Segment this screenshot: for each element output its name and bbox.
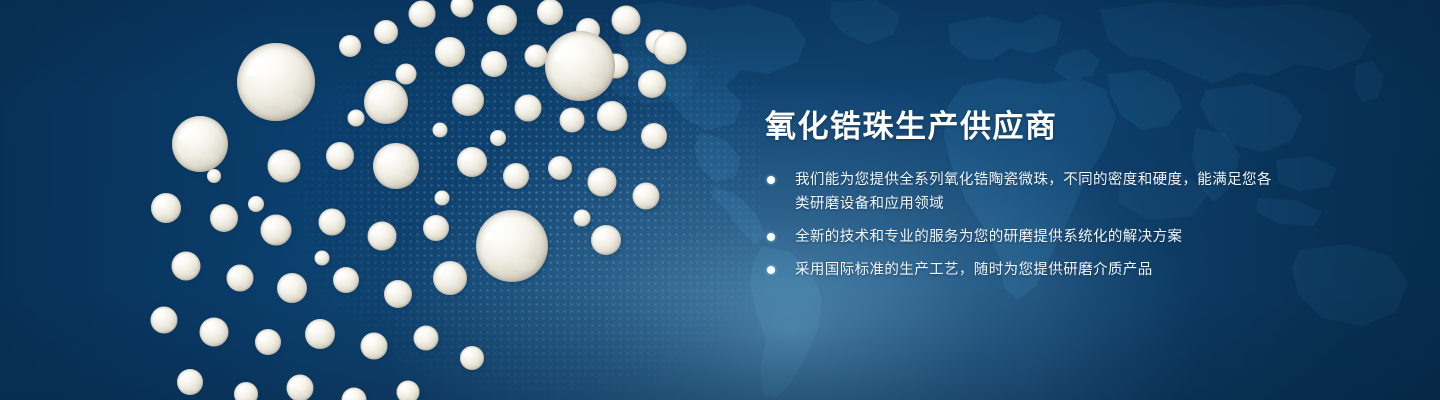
list-item-label: 我们能为您提供全系列氧化锆陶瓷微珠，不同的密度和硬度，能满足您各类研磨设备和应用… [795,172,1272,212]
list-item-label: 全新的技术和专业的服务为您的研磨提供系统化的解决方案 [795,229,1182,245]
zirconia-beads-photo [150,0,710,400]
list-item: 我们能为您提供全系列氧化锆陶瓷微珠，不同的密度和硬度，能满足您各类研磨设备和应用… [765,168,1285,216]
hero-banner: 氧化锆珠生产供应商 我们能为您提供全系列氧化锆陶瓷微珠，不同的密度和硬度，能满足… [0,0,1440,400]
bullet-dot-icon [767,233,775,241]
bullet-dot-icon [767,176,775,184]
list-item: 采用国际标准的生产工艺，随时为您提供研磨介质产品 [765,258,1285,282]
bullet-dot-icon [767,266,775,274]
page-title: 氧化锆珠生产供应商 [765,108,1285,146]
list-item: 全新的技术和专业的服务为您的研磨提供系统化的解决方案 [765,225,1285,249]
feature-list: 我们能为您提供全系列氧化锆陶瓷微珠，不同的密度和硬度，能满足您各类研磨设备和应用… [765,168,1285,282]
banner-copy: 氧化锆珠生产供应商 我们能为您提供全系列氧化锆陶瓷微珠，不同的密度和硬度，能满足… [765,108,1285,282]
list-item-label: 采用国际标准的生产工艺，随时为您提供研磨介质产品 [795,262,1153,278]
